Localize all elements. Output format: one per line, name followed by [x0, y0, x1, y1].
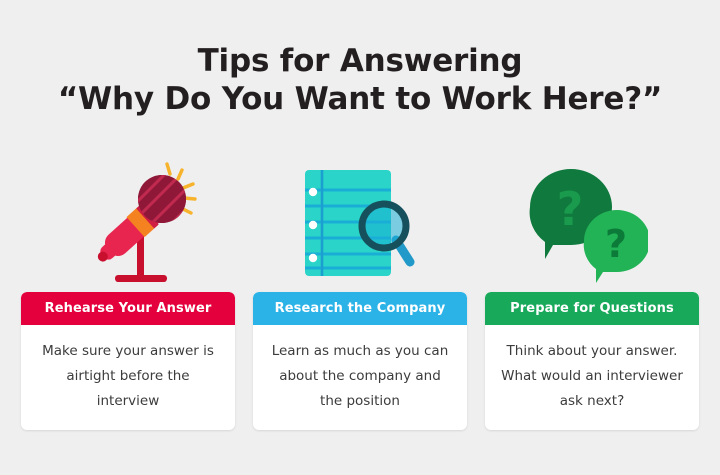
page-title-line-1: Tips for Answering — [0, 42, 720, 80]
notebook-magnifier-icon — [297, 164, 423, 282]
icon-cell-research — [253, 160, 467, 285]
tip-card-body-research: Learn as much as you can about the compa… — [253, 325, 467, 430]
tip-card-header-research: Research the Company — [253, 292, 467, 325]
tip-card-prepare[interactable]: Prepare for Questions Think about your a… — [485, 292, 699, 430]
tip-card-header-prepare: Prepare for Questions — [485, 292, 699, 325]
tip-card-header-rehearse: Rehearse Your Answer — [21, 292, 235, 325]
tip-card-rehearse[interactable]: Rehearse Your Answer Make sure your answ… — [21, 292, 235, 430]
svg-text:?: ? — [557, 182, 584, 236]
page-title-line-2: “Why Do You Want to Work Here?” — [0, 80, 720, 118]
tip-card-body-prepare: Think about your answer. What would an i… — [485, 325, 699, 430]
icon-row: ? ? — [21, 160, 699, 285]
tip-card-body-rehearse: Make sure your answer is airtight before… — [21, 325, 235, 430]
tip-card-research[interactable]: Research the Company Learn as much as yo… — [253, 292, 467, 430]
page-title: Tips for Answering “Why Do You Want to W… — [0, 42, 720, 118]
icon-cell-rehearse — [21, 160, 253, 285]
tips-card-row: Rehearse Your Answer Make sure your answ… — [21, 292, 699, 430]
svg-text:?: ? — [605, 222, 627, 266]
icon-cell-prepare: ? ? — [467, 160, 699, 285]
question-speech-bubbles-icon: ? ? — [518, 163, 648, 283]
infographic-page: Tips for Answering “Why Do You Want to W… — [0, 0, 720, 475]
microphone-icon — [77, 162, 197, 284]
